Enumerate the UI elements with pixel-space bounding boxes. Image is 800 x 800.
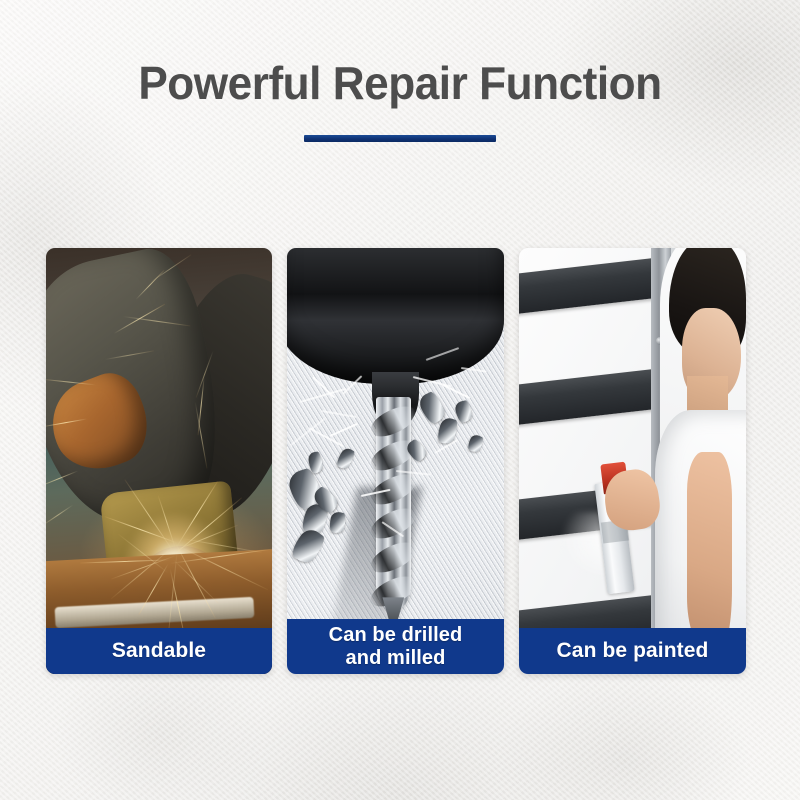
drill-bit [376,397,411,610]
spark-streak [46,418,87,427]
grinder-sparks-photo [46,248,272,674]
caption-line: Can be drilled [329,624,463,647]
spark-streaks [46,248,272,674]
spark-streak [194,402,207,469]
spray-painting-photo [519,248,746,674]
card-caption-drilled-milled: Can be drilled and milled [287,619,504,674]
caption-line: Can be painted [557,639,709,663]
drill-bit-photo [287,248,504,674]
feature-card-sandable[interactable]: Sandable [46,248,272,674]
spark-streak [124,480,173,552]
spark-streak [105,350,154,360]
card-caption-sandable: Sandable [46,628,272,674]
spark-streak [46,470,78,487]
card-caption-painted: Can be painted [519,628,746,674]
spark-streak [181,538,261,553]
spark-streak [150,254,192,283]
feature-card-painted[interactable]: Can be painted [519,248,746,674]
person-arm [687,452,732,648]
spark-streak [46,379,96,386]
feature-card-drilled-milled[interactable]: Can be drilled and milled [287,248,504,674]
title-accent-bar [304,135,496,142]
marketing-banner: Powerful Repair Function Sandable [0,0,800,800]
header: Powerful Repair Function [0,58,800,142]
caption-line: Sandable [112,639,206,663]
caption-line: and milled [329,647,463,670]
spark-streak [179,546,269,591]
spark-streak [46,504,73,525]
page-title: Powerful Repair Function [16,58,784,109]
spark-streak [110,546,173,599]
spark-streak [196,351,214,398]
feature-card-row: Sandable [46,248,746,674]
drill-chuck [287,248,504,384]
